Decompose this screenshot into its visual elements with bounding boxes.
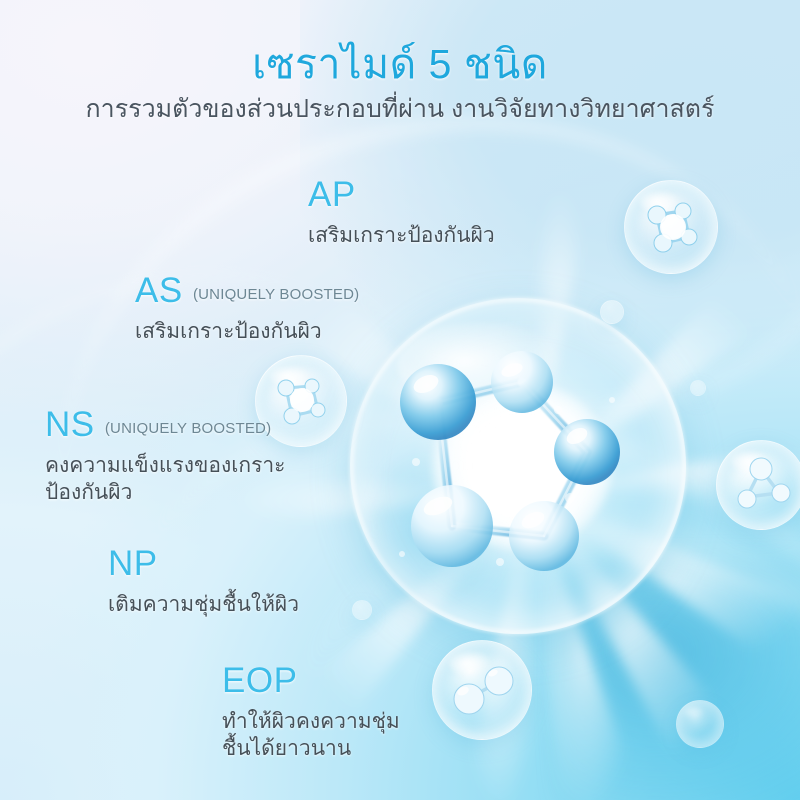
ingredient-description: เสริมเกราะป้องกันผิว <box>135 318 359 345</box>
page-title: เซราไมด์ 5 ชนิด <box>0 38 800 90</box>
ingredient-code: AP <box>308 176 495 218</box>
mini-molecule-icon <box>433 641 531 739</box>
satellite-bubble-bottom <box>432 640 532 740</box>
ceramide-molecule-cluster <box>372 340 652 610</box>
mini-molecule-icon <box>717 441 800 529</box>
ingredient-code-text: AP <box>308 175 356 214</box>
ingredient-description: เติมความชุ่มชื้นให้ผิว <box>108 591 299 618</box>
ingredient-description: คงความแข็งแรงของเกราะ ป้องกันผิว <box>45 452 285 506</box>
satellite-bubble-right <box>716 440 800 530</box>
ingredient-ap: AP เสริมเกราะป้องกันผิว <box>308 176 495 249</box>
ingredient-code-text: NP <box>108 544 158 583</box>
ingredient-eop: EOP ทำให้ผิวคงความชุ่ม ชื้นได้ยาวนาน <box>222 662 400 762</box>
ingredient-boost-note: (UNIQUELY BOOSTED) <box>193 286 359 303</box>
ingredient-as: AS (UNIQUELY BOOSTED) เสริมเกราะป้องกันผ… <box>135 272 359 345</box>
ingredient-np: NP เติมความชุ่มชื้นให้ผิว <box>108 545 299 618</box>
satellite-bubble-top-right <box>624 180 718 274</box>
poster-canvas: เซราไมด์ 5 ชนิด การรวมตัวของส่วนประกอบที… <box>0 0 800 800</box>
satellite-bubble-far-right <box>676 700 724 748</box>
droplet-small-2 <box>352 600 372 620</box>
ingredient-ns: NS (UNIQUELY BOOSTED) คงความแข็งแรงของเก… <box>45 406 285 506</box>
droplet-small-1 <box>600 300 624 324</box>
mini-molecule-icon <box>625 181 717 273</box>
header-block: เซราไมด์ 5 ชนิด การรวมตัวของส่วนประกอบที… <box>0 38 800 126</box>
ingredient-code-text: NS <box>45 405 95 444</box>
ingredient-code: NP <box>108 545 299 587</box>
ingredient-boost-note: (UNIQUELY BOOSTED) <box>105 420 271 437</box>
ingredient-code: NS (UNIQUELY BOOSTED) <box>45 406 285 448</box>
droplet-small-3 <box>690 380 706 396</box>
ingredient-code: EOP <box>222 662 400 704</box>
ingredient-code-text: AS <box>135 271 183 310</box>
page-subtitle: การรวมตัวของส่วนประกอบที่ผ่าน งานวิจัยทา… <box>0 92 800 126</box>
ingredient-description: ทำให้ผิวคงความชุ่ม ชื้นได้ยาวนาน <box>222 708 400 762</box>
bubble-highlight <box>684 706 704 718</box>
ingredient-code-text: EOP <box>222 661 297 700</box>
ingredient-code: AS (UNIQUELY BOOSTED) <box>135 272 359 314</box>
ingredient-description: เสริมเกราะป้องกันผิว <box>308 222 495 249</box>
